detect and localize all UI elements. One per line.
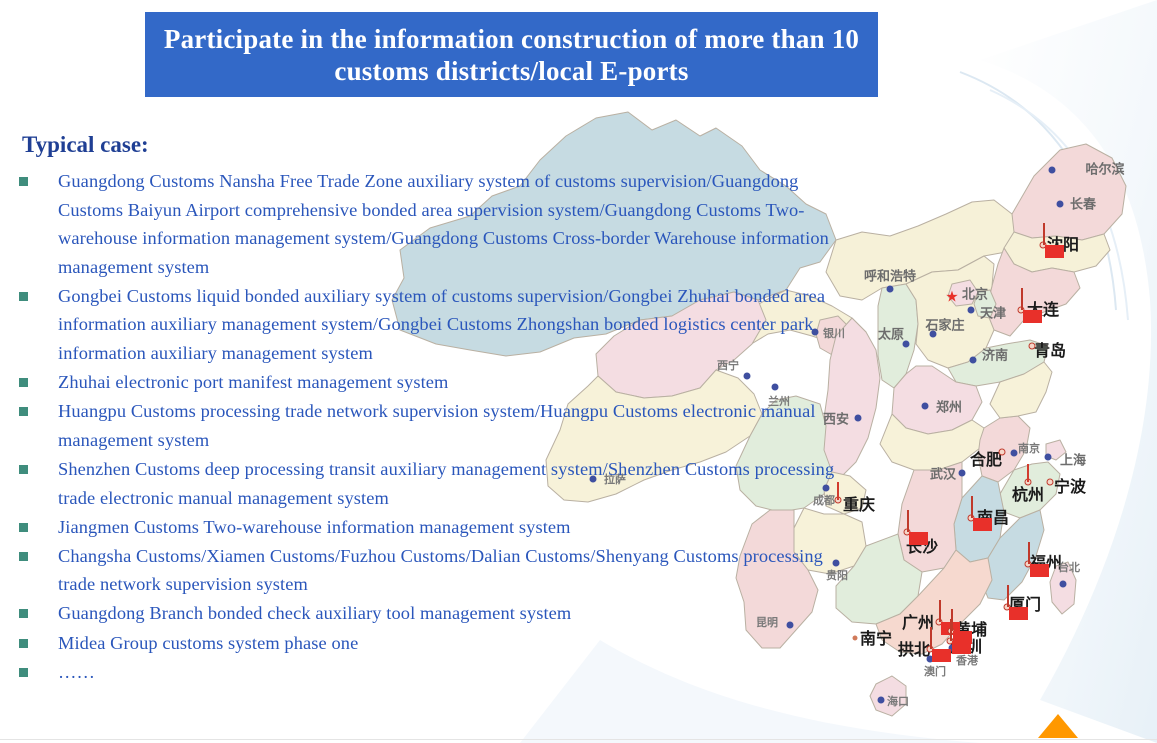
typical-case-heading: Typical case: <box>22 131 149 159</box>
square-bullet-icon <box>19 177 28 186</box>
list-item-label: Gongbei Customs liquid bonded auxiliary … <box>58 282 851 368</box>
orange-triangle-icon <box>1038 714 1078 738</box>
list-item-label: Zhuhai electronic port manifest manageme… <box>58 368 851 397</box>
list-item-label: Jiangmen Customs Two-warehouse informati… <box>58 513 851 542</box>
list-item-label: Changsha Customs/Xiamen Customs/Fuzhou C… <box>58 542 851 599</box>
square-bullet-icon <box>19 407 28 416</box>
slide-title-banner: Participate in the information construct… <box>145 12 878 97</box>
list-item: Huangpu Customs processing trade network… <box>16 397 851 454</box>
slide-content: Participate in the information construct… <box>0 0 1157 743</box>
list-item: Zhuhai electronic port manifest manageme… <box>16 368 851 397</box>
list-item-label: …… <box>58 658 851 687</box>
list-item-label: Huangpu Customs processing trade network… <box>58 397 851 454</box>
square-bullet-icon <box>19 609 28 618</box>
list-item: Shenzhen Customs deep processing transit… <box>16 455 851 512</box>
square-bullet-icon <box>19 668 28 677</box>
list-item: Guangdong Customs Nansha Free Trade Zone… <box>16 167 851 281</box>
square-bullet-icon <box>19 378 28 387</box>
list-item-label: Guangdong Branch bonded check auxiliary … <box>58 599 851 628</box>
page-title: Participate in the information construct… <box>159 23 864 87</box>
list-item: Changsha Customs/Xiamen Customs/Fuzhou C… <box>16 542 851 599</box>
typical-case-list: Guangdong Customs Nansha Free Trade Zone… <box>16 167 851 687</box>
list-item-label: Shenzhen Customs deep processing transit… <box>58 455 851 512</box>
square-bullet-icon <box>19 292 28 301</box>
square-bullet-icon <box>19 639 28 648</box>
list-item: Midea Group customs system phase one <box>16 629 851 658</box>
list-item: Guangdong Branch bonded check auxiliary … <box>16 599 851 628</box>
square-bullet-icon <box>19 465 28 474</box>
list-item-label: Guangdong Customs Nansha Free Trade Zone… <box>58 167 851 281</box>
square-bullet-icon <box>19 523 28 532</box>
list-item: Jiangmen Customs Two-warehouse informati… <box>16 513 851 542</box>
square-bullet-icon <box>19 552 28 561</box>
list-item-label: Midea Group customs system phase one <box>58 629 851 658</box>
list-item: …… <box>16 658 851 687</box>
list-item: Gongbei Customs liquid bonded auxiliary … <box>16 282 851 368</box>
